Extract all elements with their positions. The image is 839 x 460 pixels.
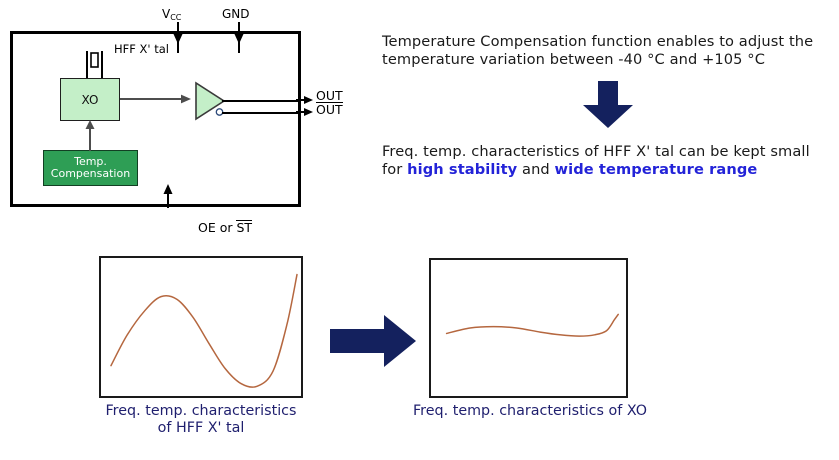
out-inverted-label: OUT [316, 102, 343, 117]
out-arrow [296, 94, 314, 106]
right-arrow-icon [330, 313, 418, 369]
gnd-label: GND [222, 7, 250, 21]
vcc-input-arrow [172, 22, 184, 44]
temp-comp-line2: Compensation [51, 168, 130, 180]
temp-compensation-block: Temp. Compensation [43, 150, 138, 186]
gnd-input-arrow [233, 22, 245, 44]
out-inverted-wire [222, 112, 301, 114]
down-arrow-icon [382, 81, 834, 129]
temp-comp-to-xo-arrow [84, 120, 96, 151]
info-paragraph-2: Freq. temp. characteristics of HFF X' ta… [382, 143, 834, 180]
xo-to-buffer-arrow [120, 93, 192, 105]
crystal-lead-left-top [86, 59, 88, 61]
vcc-label: VCC [162, 7, 181, 22]
info-paragraph-1: Temperature Compensation function enable… [382, 33, 834, 70]
down-arrow-glyph [581, 81, 635, 129]
crystal-lead-right [101, 60, 103, 79]
chart-xo-caption: Freq. temp. characteristics of XO [385, 403, 675, 420]
info-p2-highlight-2: wide temperature range [555, 161, 758, 178]
info-p2-part2: and [517, 161, 554, 178]
xo-block: XO [60, 78, 120, 121]
oe-st-label: OE or ST [198, 220, 252, 235]
chart-hff-xtal-plot [101, 258, 301, 396]
crystal-label: HFF X' tal [114, 42, 169, 56]
oe-st-arrow [162, 184, 174, 208]
block-diagram: HFF X' tal XO Temp. Compensation [10, 31, 301, 207]
out-label: OUT [316, 88, 343, 103]
xo-label: XO [82, 93, 99, 107]
chart-hff-xtal-caption: Freq. temp. characteristics of HFF X' ta… [75, 403, 327, 438]
crystal-symbol [76, 49, 114, 71]
chart-xo [429, 258, 628, 398]
info-text-panel: Temperature Compensation function enable… [382, 33, 834, 180]
chart-xo-plot [431, 260, 626, 396]
out-wire [222, 100, 301, 102]
info-p2-highlight-1: high stability [407, 161, 517, 178]
chart-hff-xtal [99, 256, 303, 398]
crystal-lead-left [86, 60, 88, 79]
out-inverted-arrow [296, 106, 314, 118]
right-arrow-glyph [330, 313, 418, 369]
